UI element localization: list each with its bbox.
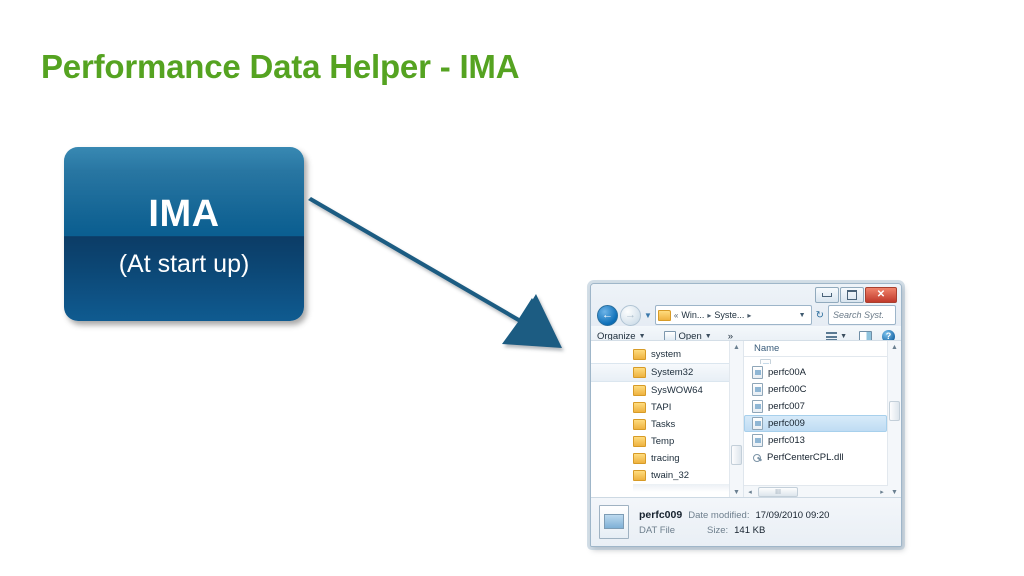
tree-item-temp[interactable]: Temp: [591, 433, 743, 450]
back-button[interactable]: ←: [597, 305, 618, 326]
details-file-name: perfc009: [639, 509, 682, 521]
file-row-perfc009-selected[interactable]: perfc009: [744, 415, 887, 432]
back-arrow-icon: ←: [602, 310, 613, 321]
scroll-up-icon[interactable]: ▲: [888, 341, 901, 353]
column-header-label: Name: [754, 343, 779, 354]
forward-button[interactable]: →: [620, 305, 641, 326]
search-input[interactable]: Search Syst.: [828, 305, 896, 325]
flow-arrow-icon: [300, 190, 580, 355]
tree-item-system32[interactable]: System32: [591, 363, 743, 382]
details-date-label: Date modified:: [688, 510, 749, 521]
ima-box-title: IMA: [64, 193, 304, 236]
tree-item-label: system: [651, 349, 681, 360]
dat-file-icon: [752, 400, 763, 413]
folder-icon: [658, 310, 671, 321]
folder-icon: [633, 385, 646, 396]
file-row-clipped: [752, 357, 901, 364]
details-size-value: 141 KB: [734, 525, 765, 536]
details-size-label: Size:: [707, 525, 728, 536]
tree-item-label: twain_32: [651, 470, 689, 481]
tree-item-tasks[interactable]: Tasks: [591, 416, 743, 433]
search-placeholder: Search Syst.: [833, 310, 884, 320]
tree-vertical-scrollbar[interactable]: ▲ ▼: [729, 341, 743, 498]
page-title: Performance Data Helper - IMA: [41, 48, 519, 86]
folder-icon: [633, 470, 646, 481]
maximize-icon: [847, 290, 857, 300]
tree-item-label: tracing: [651, 453, 680, 464]
address-dropdown-icon[interactable]: ▼: [796, 312, 809, 319]
tree-list: system System32 SysWOW64 TAPI Tasks: [591, 341, 743, 492]
ima-box-subtitle: (At start up): [64, 250, 304, 279]
details-line-1: perfc009 Date modified: 17/09/2010 09:20: [639, 509, 829, 521]
folder-icon: [633, 367, 646, 378]
file-name-label: perfc007: [768, 401, 805, 412]
minimize-icon: [822, 293, 832, 297]
folder-icon: [633, 402, 646, 413]
dat-file-icon: [752, 383, 763, 396]
list-hscroll-thumb[interactable]: III: [758, 487, 798, 497]
details-text: perfc009 Date modified: 17/09/2010 09:20…: [639, 509, 829, 536]
folder-icon: [633, 436, 646, 447]
file-row[interactable]: [752, 357, 901, 364]
breadcrumb-separator-0: ▸: [707, 311, 711, 320]
folder-icon: [633, 453, 646, 464]
explorer-panes: system System32 SysWOW64 TAPI Tasks: [591, 340, 901, 498]
file-name-label: perfc00C: [768, 384, 807, 395]
dat-file-large-icon: [599, 505, 629, 539]
file-row-perfc00A[interactable]: perfc00A: [744, 364, 901, 381]
windows-explorer-window[interactable]: ✕ ← → ▼ « Win... ▸ Syste... ▸ ▼ ↻ Sea: [590, 283, 902, 547]
dat-file-icon: [752, 434, 763, 447]
folder-icon: [633, 349, 646, 360]
tree-item-tracing[interactable]: tracing: [591, 450, 743, 467]
tree-item-system[interactable]: system: [591, 346, 743, 363]
file-list-pane[interactable]: Name perfc00A perfc00C perfc007: [744, 341, 901, 498]
breadcrumb-lead: «: [674, 311, 678, 320]
scroll-right-icon[interactable]: ▸: [876, 488, 888, 496]
file-name-label: perfc009: [768, 418, 805, 429]
dat-file-icon: [760, 359, 771, 364]
minimize-button[interactable]: [815, 287, 839, 303]
explorer-chrome: ✕ ← → ▼ « Win... ▸ Syste... ▸ ▼ ↻ Sea: [591, 284, 901, 340]
breadcrumb-separator-1: ▸: [747, 311, 751, 320]
forward-arrow-icon: →: [625, 310, 636, 321]
tree-item-twain32[interactable]: twain_32: [591, 467, 743, 484]
scroll-left-icon[interactable]: ◂: [744, 488, 756, 496]
history-dropdown-icon[interactable]: ▼: [644, 311, 652, 320]
scroll-up-icon[interactable]: ▲: [730, 341, 743, 353]
tree-item-label: TAPI: [651, 402, 671, 413]
file-name-label: PerfCenterCPL.dll: [767, 452, 844, 463]
list-vertical-scrollbar[interactable]: ▲ ▼: [887, 341, 901, 498]
chevron-down-icon: ▼: [639, 333, 646, 340]
file-name-label: perfc00A: [768, 367, 806, 378]
close-button[interactable]: ✕: [865, 287, 897, 303]
dat-file-icon: [752, 417, 763, 430]
file-row-perfc00C[interactable]: perfc00C: [744, 381, 901, 398]
tree-item-clipped: [633, 484, 743, 492]
column-header-name[interactable]: Name: [744, 341, 901, 357]
file-row-perfc013[interactable]: perfc013: [744, 432, 901, 449]
tree-item-label: System32: [651, 367, 693, 378]
folder-icon: [633, 419, 646, 430]
ima-start-up-box: IMA (At start up): [64, 147, 304, 321]
file-name-label: perfc013: [768, 435, 805, 446]
file-row-perfcentercpl-dll[interactable]: PerfCenterCPL.dll: [744, 449, 901, 466]
dat-file-icon: [752, 366, 763, 379]
list-scroll-thumb[interactable]: [889, 401, 900, 421]
details-file-type: DAT File: [639, 525, 701, 536]
maximize-button[interactable]: [840, 287, 864, 303]
chevron-down-icon: ▼: [705, 333, 712, 340]
breadcrumb[interactable]: « Win... ▸ Syste... ▸ ▼: [655, 305, 812, 325]
tree-item-label: SysWOW64: [651, 385, 703, 396]
window-controls[interactable]: ✕: [815, 287, 897, 303]
list-scroll-track[interactable]: [888, 353, 901, 486]
address-bar[interactable]: ← → ▼ « Win... ▸ Syste... ▸ ▼ ↻ Search S…: [597, 304, 896, 326]
tree-scroll-thumb[interactable]: [731, 445, 742, 465]
dll-file-icon: [752, 453, 762, 463]
breadcrumb-item-1[interactable]: Syste...: [714, 310, 744, 320]
file-row-perfc007[interactable]: perfc007: [744, 398, 901, 415]
tree-item-syswow64[interactable]: SysWOW64: [591, 382, 743, 399]
details-pane: perfc009 Date modified: 17/09/2010 09:20…: [591, 497, 901, 546]
chevron-down-icon: ▼: [840, 333, 847, 340]
tree-item-label: Temp: [651, 436, 674, 447]
close-icon: ✕: [877, 290, 885, 300]
navigation-tree-pane[interactable]: system System32 SysWOW64 TAPI Tasks: [591, 341, 744, 498]
refresh-icon[interactable]: ↻: [814, 310, 826, 321]
tree-scroll-track[interactable]: [730, 353, 743, 486]
tree-item-label: Tasks: [651, 419, 675, 430]
details-date-value: 17/09/2010 09:20: [755, 510, 829, 521]
breadcrumb-item-0[interactable]: Win...: [681, 310, 704, 320]
details-line-2: DAT File Size: 141 KB: [639, 525, 829, 536]
tree-item-tapi[interactable]: TAPI: [591, 399, 743, 416]
